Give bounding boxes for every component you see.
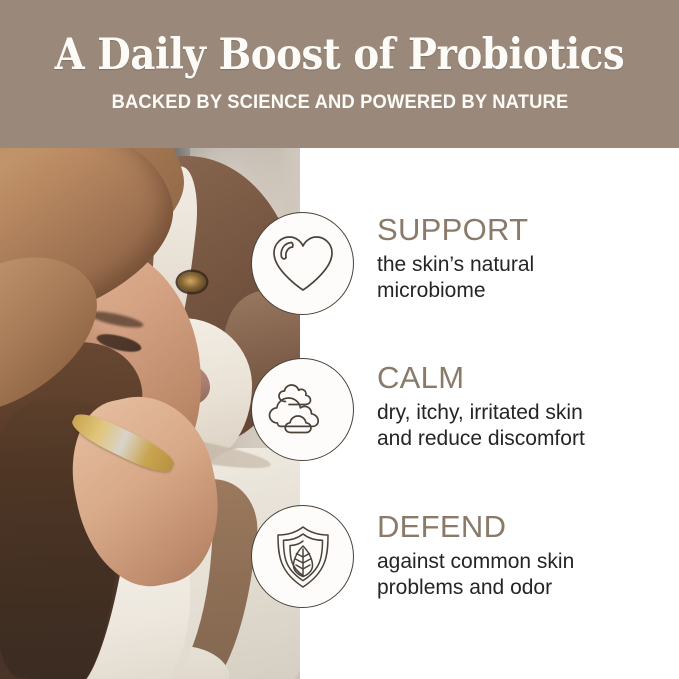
feature-defend-title: DEFEND [377, 511, 667, 544]
heart-icon [270, 233, 336, 295]
header-banner: A Daily Boost of Probiotics BACKED BY SC… [0, 0, 679, 148]
feature-calm-title: CALM [377, 362, 667, 395]
feature-defend-desc-line-2: problems and odor [377, 575, 667, 601]
feature-defend: DEFEND against common skin problems and … [0, 505, 679, 608]
shield-leaf-icon [272, 524, 334, 590]
feature-support-desc-line-1: the skin’s natural [377, 252, 667, 278]
clouds-icon-badge [251, 358, 354, 461]
feature-defend-desc: against common skin problems and odor [377, 549, 667, 601]
feature-support-desc: the skin’s natural microbiome [377, 252, 667, 304]
feature-calm: CALM dry, itchy, irritated skin and redu… [0, 358, 679, 461]
feature-support-desc-line-2: microbiome [377, 278, 667, 304]
feature-calm-desc-line-2: and reduce discomfort [377, 426, 667, 452]
feature-calm-desc: dry, itchy, irritated skin and reduce di… [377, 400, 667, 452]
promotional-banner: A Daily Boost of Probiotics BACKED BY SC… [0, 0, 679, 679]
heart-icon-badge [251, 212, 354, 315]
header-subtitle: BACKED BY SCIENCE AND POWERED BY NATURE [111, 91, 568, 114]
feature-defend-text: DEFEND against common skin problems and … [377, 511, 667, 601]
page-title: A Daily Boost of Probiotics [55, 34, 625, 77]
feature-support-text: SUPPORT the skin’s natural microbiome [377, 214, 667, 304]
feature-calm-desc-line-1: dry, itchy, irritated skin [377, 400, 667, 426]
feature-defend-desc-line-1: against common skin [377, 549, 667, 575]
feature-support-title: SUPPORT [377, 214, 667, 247]
feature-support: SUPPORT the skin’s natural microbiome [0, 212, 679, 315]
clouds-icon [267, 380, 339, 440]
feature-calm-text: CALM dry, itchy, irritated skin and redu… [377, 362, 667, 452]
shield-leaf-icon-badge [251, 505, 354, 608]
